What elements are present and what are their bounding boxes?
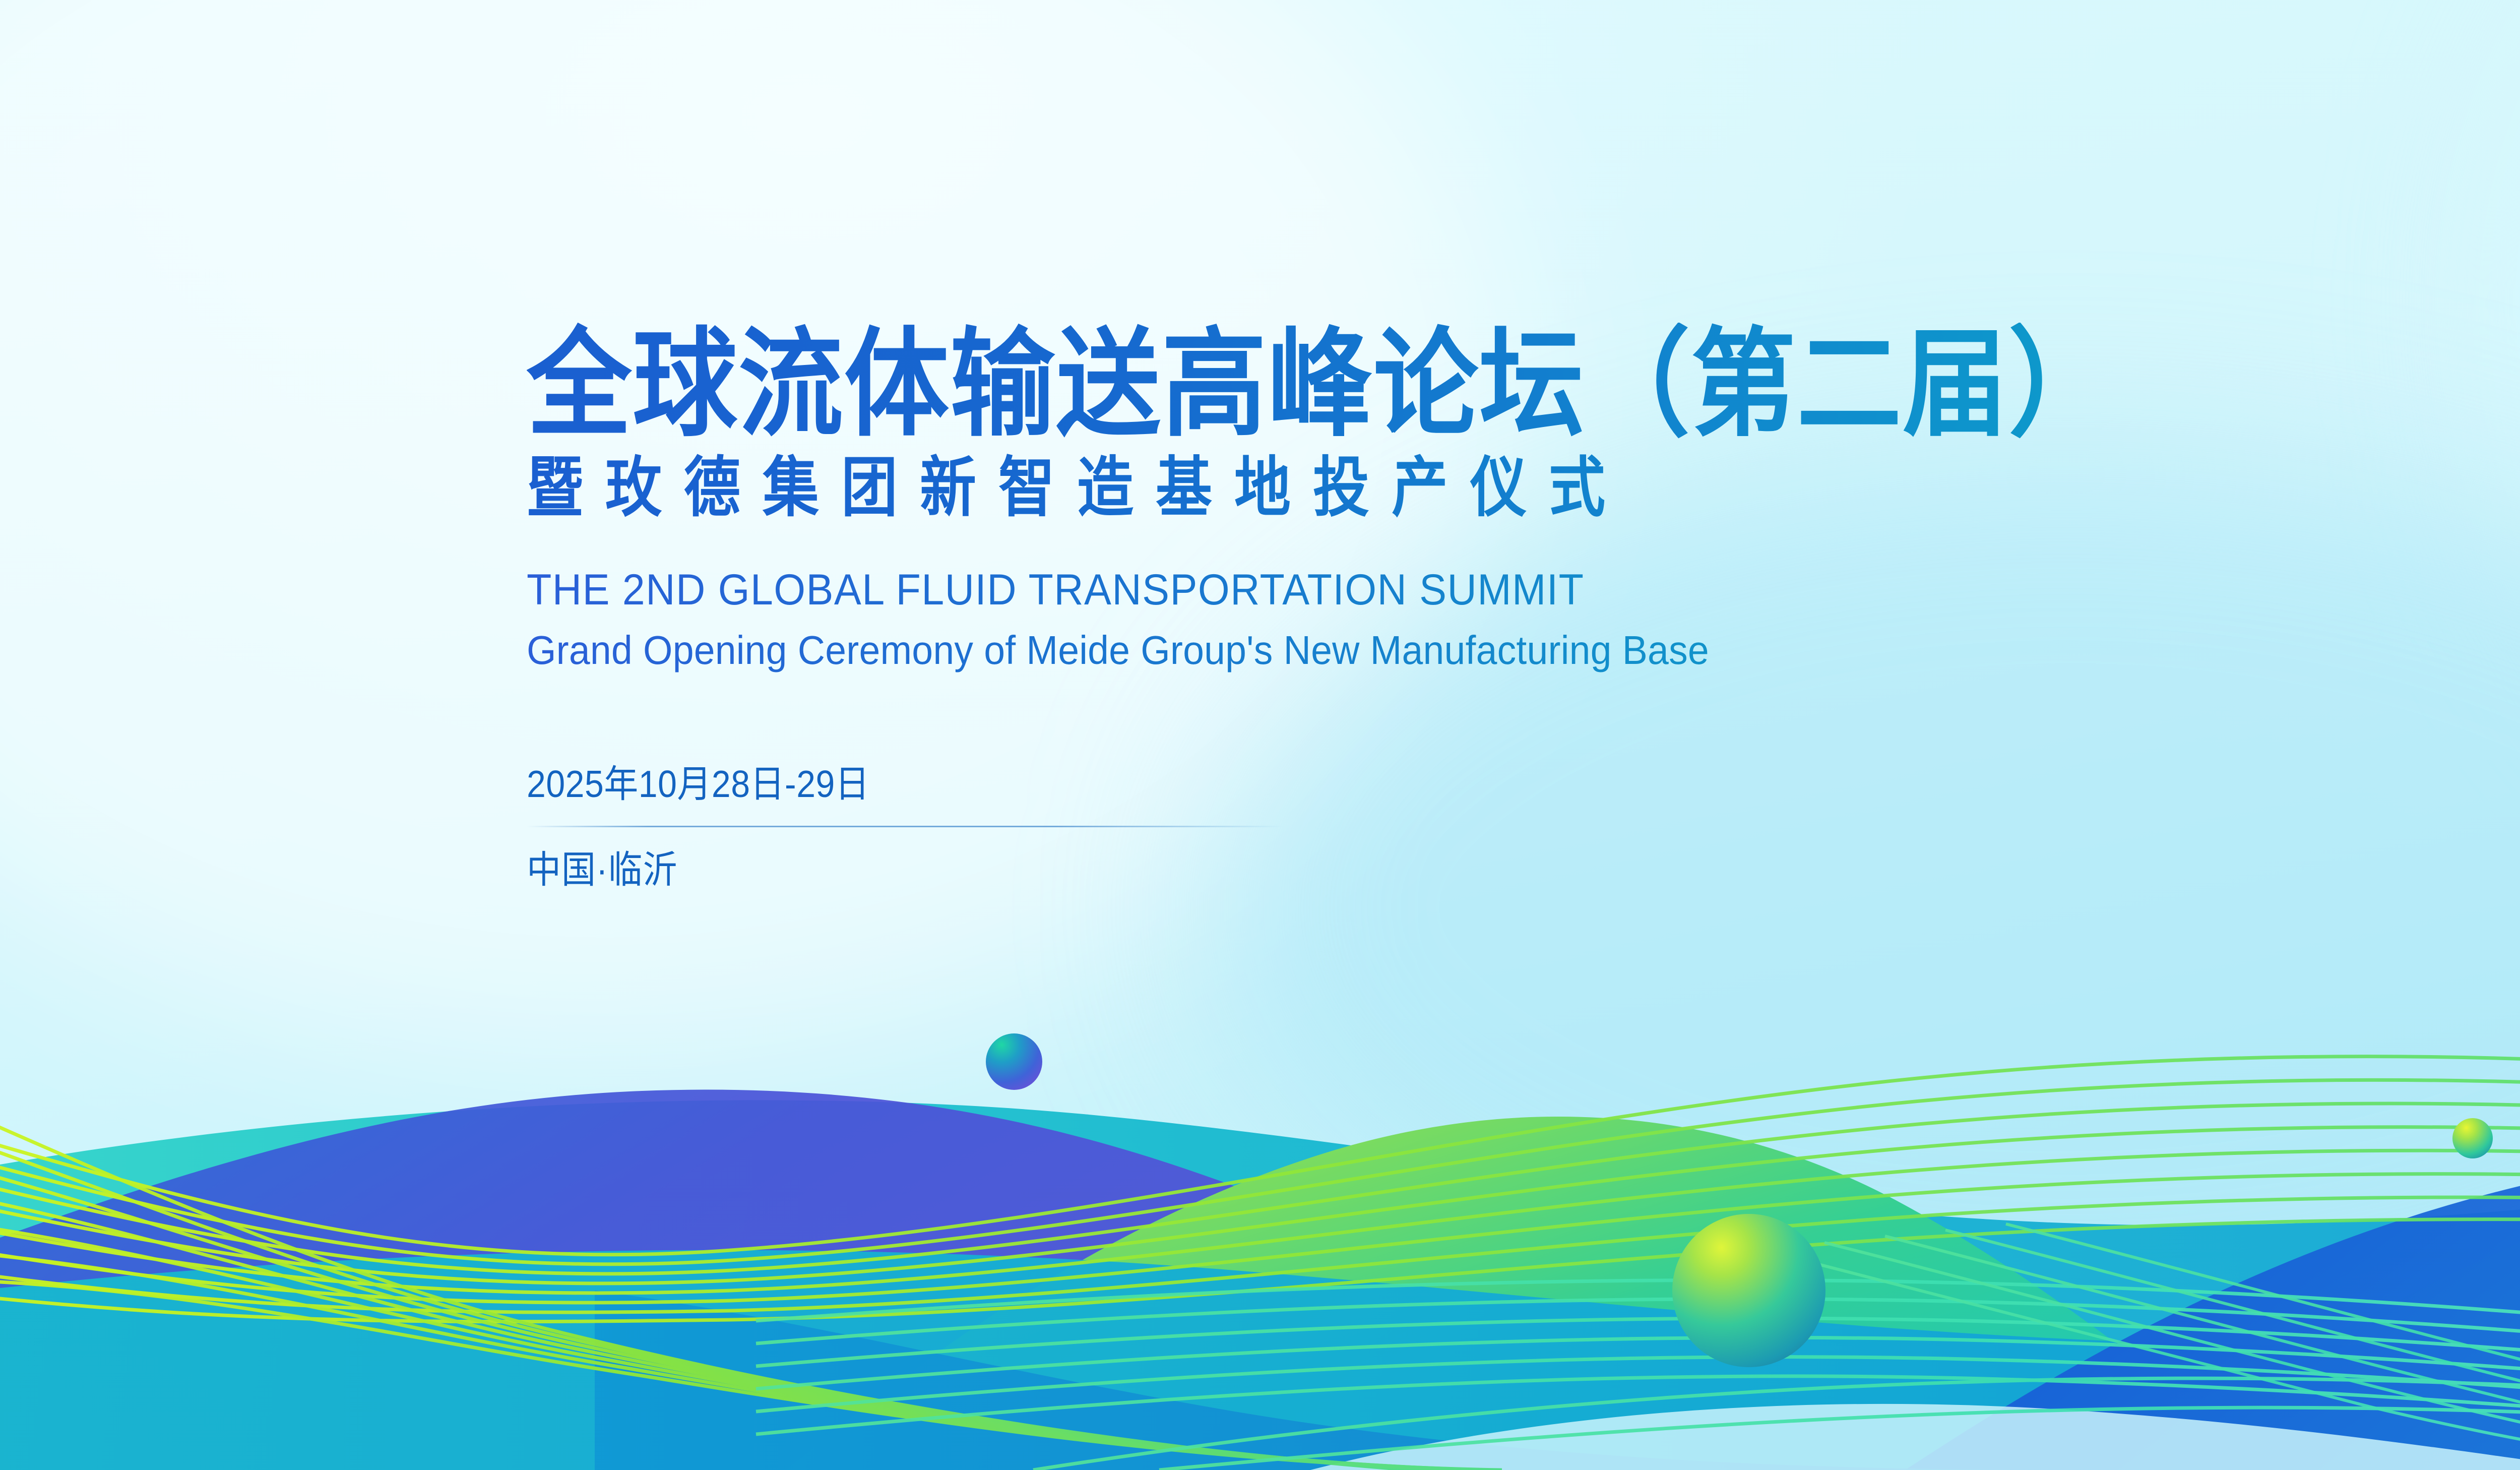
subtitle-cn: 暨玫德集团新智造基地投产仪式 (527, 452, 2520, 524)
title-en: THE 2ND GLOBAL FLUID TRANSPORTATION SUMM… (527, 566, 2520, 614)
meta-divider (527, 826, 1283, 827)
event-meta: 2025年10月28日-29日 中国·临沂 (527, 764, 1303, 887)
event-location: 中国·临沂 (527, 849, 1303, 891)
headline-block: 全球流体输送高峰论坛（第二届） 暨玫德集团新智造基地投产仪式 THE 2ND G… (527, 323, 2520, 887)
poster-canvas: 全球流体输送高峰论坛（第二届） 暨玫德集团新智造基地投产仪式 THE 2ND G… (0, 0, 2520, 1470)
event-date: 2025年10月28日-29日 (527, 764, 1303, 805)
title-cn: 全球流体输送高峰论坛（第二届） (527, 323, 2520, 447)
subtitle-en: Grand Opening Ceremony of Meide Group's … (527, 627, 2520, 673)
